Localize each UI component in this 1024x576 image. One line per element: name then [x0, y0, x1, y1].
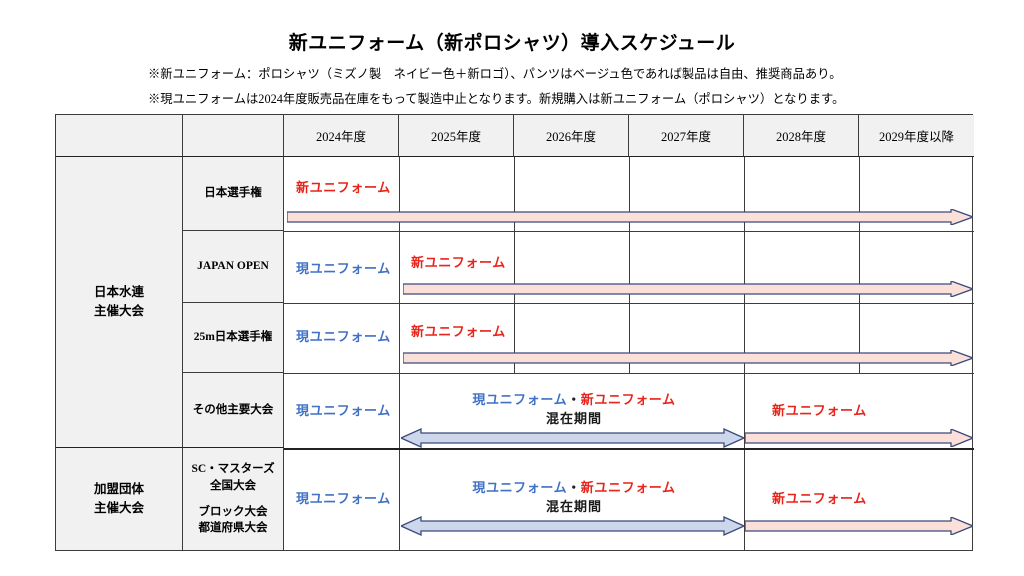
note-line-1: ※新ユニフォーム：ポロシャツ（ミズノ製 ネイビー色＋新ロゴ）、パンツはベージュ色… — [148, 64, 842, 82]
event-block-line1: ブロック大会 — [199, 504, 268, 521]
group-affiliate-line1: 加盟団体 — [94, 480, 144, 499]
arrow-row1-new-uniform — [287, 209, 973, 225]
label-row3-new-uniform: 新ユニフォーム — [411, 321, 506, 340]
label-row4-mixed-period: 現ユニフォーム・新ユニフォーム 混在期間 — [404, 391, 744, 429]
arrow-row5-mixed-period — [401, 516, 744, 536]
event-cell-japan-championship: 日本選手権 — [183, 157, 284, 231]
label-row3-current-uniform: 現ユニフォーム — [296, 326, 391, 345]
grid-vline-2026 — [514, 157, 515, 373]
grid-hline-row2 — [284, 303, 974, 304]
label-row5-current-uniform: 現ユニフォーム — [296, 488, 391, 507]
group-jasf-line2: 主催大会 — [94, 302, 144, 321]
label-row5-mixed-separator: ・ — [567, 480, 581, 495]
label-row1-new-uniform: 新ユニフォーム — [296, 177, 391, 196]
schedule-page: 新ユニフォーム（新ポロシャツ）導入スケジュール ※新ユニフォーム：ポロシャツ（ミ… — [0, 0, 1024, 576]
label-row2-new-uniform: 新ユニフォーム — [411, 252, 506, 271]
label-row5-mixed-period: 現ユニフォーム・新ユニフォーム 混在期間 — [404, 479, 744, 517]
label-row4-current-uniform: 現ユニフォーム — [296, 400, 391, 419]
header-corner-event — [183, 115, 284, 157]
grid-vline-2029 — [859, 157, 860, 373]
label-row5-mixed-subtitle: 混在期間 — [404, 498, 744, 517]
event-cell-japan-open: JAPAN OPEN — [183, 231, 284, 303]
group-affiliate-line2: 主催大会 — [94, 499, 144, 518]
arrow-row3-new-uniform — [403, 350, 973, 366]
arrow-row2-new-uniform — [403, 281, 973, 297]
group-jasf-line1: 日本水連 — [94, 283, 144, 302]
label-row4-mixed-current: 現ユニフォーム — [472, 392, 567, 407]
page-title: 新ユニフォーム（新ポロシャツ）導入スケジュール — [0, 28, 1024, 55]
grid-hline-row3 — [284, 373, 974, 374]
label-row4-new-uniform: 新ユニフォーム — [772, 400, 867, 419]
header-year-2029-onward: 2029年度以降 — [859, 115, 974, 157]
label-row2-current-uniform: 現ユニフォーム — [296, 258, 391, 277]
label-row5-mixed-current: 現ユニフォーム — [472, 480, 567, 495]
label-row4-mixed-subtitle: 混在期間 — [404, 410, 744, 429]
header-corner-group — [56, 115, 183, 157]
header-year-2028: 2028年度 — [744, 115, 859, 157]
header-year-2025: 2025年度 — [399, 115, 514, 157]
group-cell-jasf: 日本水連 主催大会 — [56, 157, 183, 448]
label-row5-mixed-new: 新ユニフォーム — [581, 480, 676, 495]
event-cell-other-major: その他主要大会 — [183, 373, 284, 448]
label-row5-new-uniform: 新ユニフォーム — [772, 488, 867, 507]
label-row4-mixed-separator: ・ — [567, 392, 581, 407]
grid-vline-2027 — [629, 157, 630, 373]
arrow-row4-mixed-period — [401, 428, 744, 448]
event-cell-25m-championship: 25m日本選手権 — [183, 303, 284, 373]
note-line-2: ※現ユニフォームは2024年度販売品在庫をもって製造中止となります。新規購入は新… — [148, 89, 844, 107]
event-cell-sc-masters-block: SC・マスターズ 全国大会 ブロック大会 都道府県大会 — [183, 448, 284, 550]
grid-hline-group — [284, 448, 974, 450]
arrow-row5-new-uniform — [745, 517, 973, 535]
label-row4-mixed-new: 新ユニフォーム — [581, 392, 676, 407]
group-cell-affiliate: 加盟団体 主催大会 — [56, 448, 183, 550]
event-sc-masters-line1: SC・マスターズ — [191, 461, 274, 478]
event-sc-masters-line2: 全国大会 — [191, 478, 274, 495]
event-block-line2: 都道府県大会 — [199, 520, 268, 537]
header-year-2026: 2026年度 — [514, 115, 629, 157]
arrow-row4-new-uniform — [745, 429, 973, 447]
schedule-table: 2024年度 2025年度 2026年度 2027年度 2028年度 2029年… — [55, 114, 973, 551]
grid-hline-row1 — [284, 231, 974, 232]
header-year-2027: 2027年度 — [629, 115, 744, 157]
header-year-2024: 2024年度 — [284, 115, 399, 157]
